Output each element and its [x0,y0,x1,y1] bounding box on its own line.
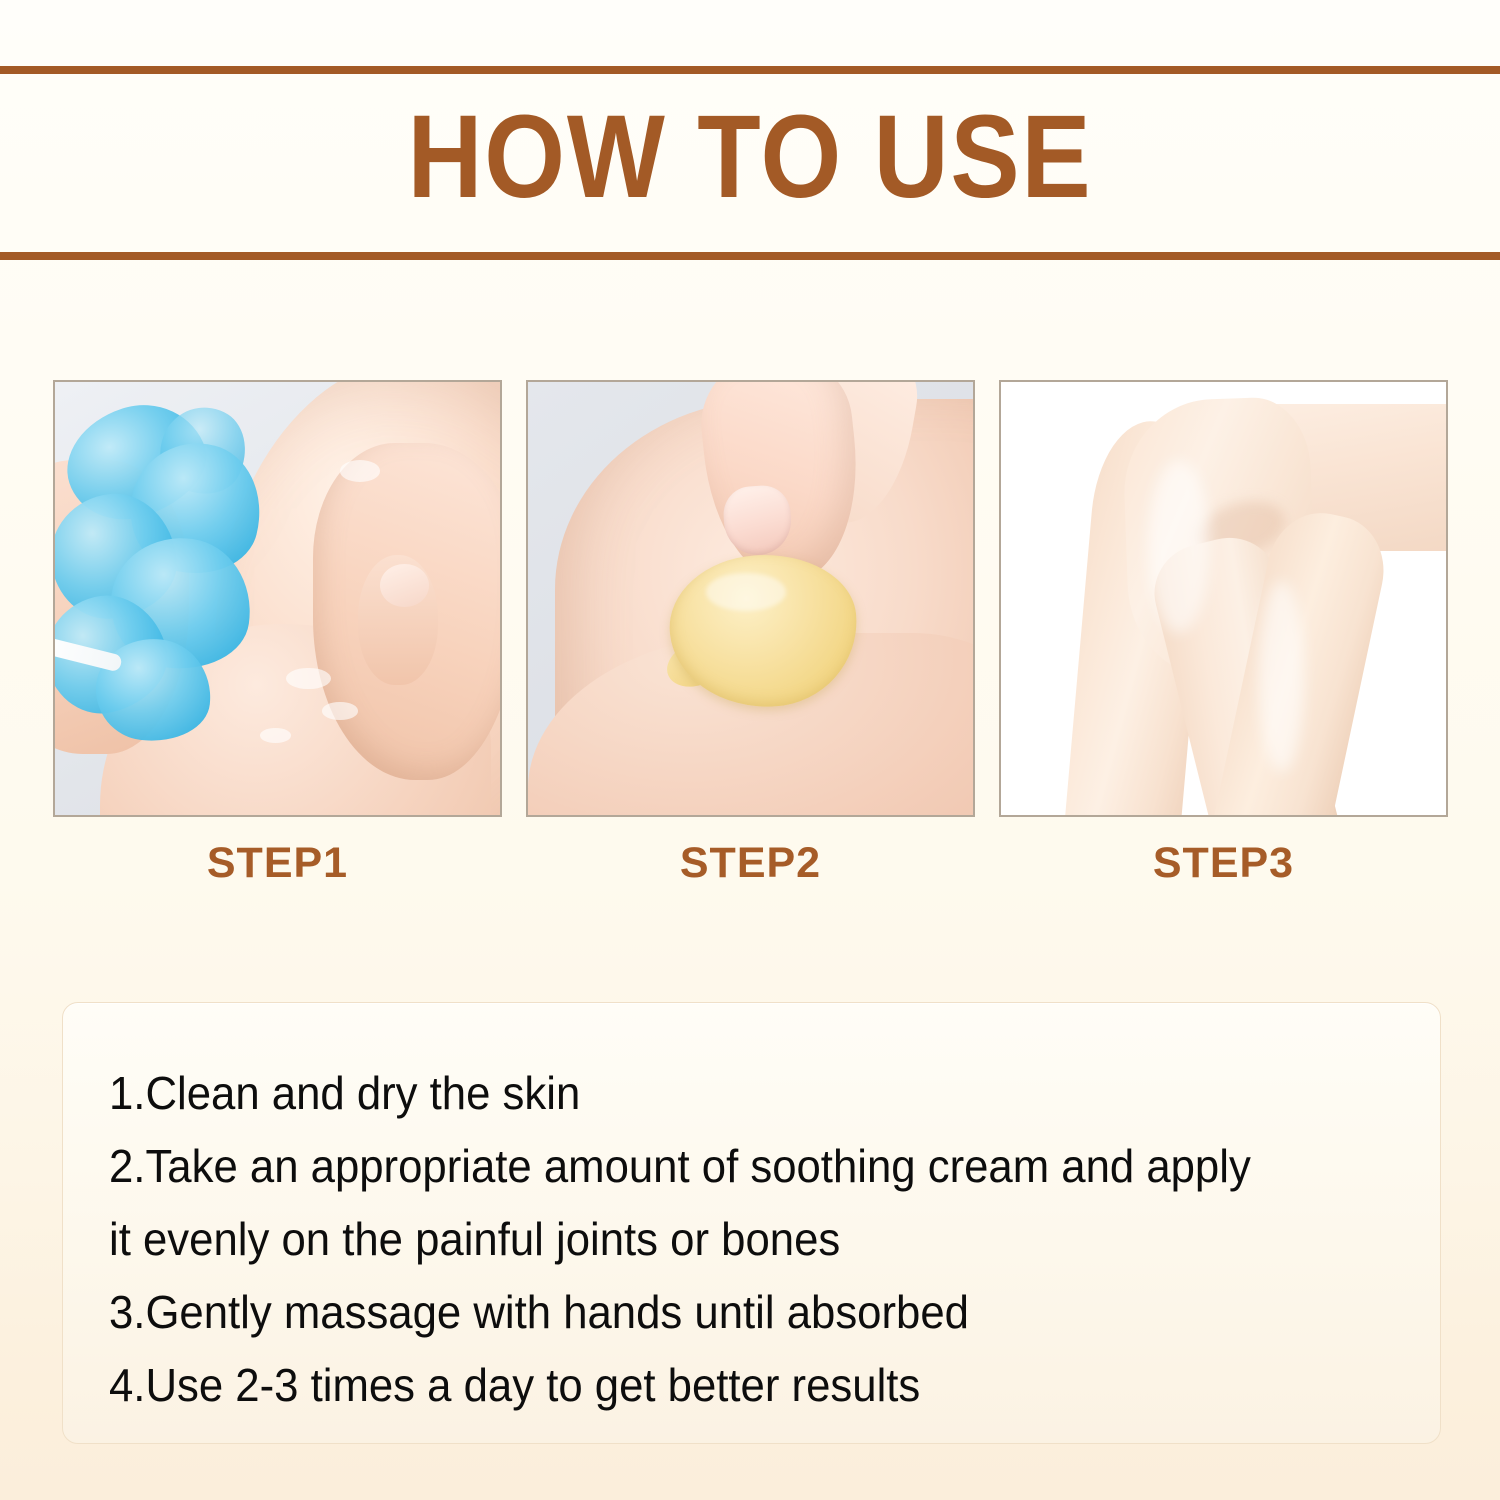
step3-photo [999,380,1448,817]
suds-icon [260,728,291,743]
highlight-icon [1259,581,1304,772]
step-item-1: STEP1 [53,380,502,888]
instructions-panel: 1.Clean and dry the skin 2.Take an appro… [62,1002,1441,1444]
step-label-1: STEP1 [53,839,502,888]
suds-icon [322,702,358,719]
step-item-3: STEP3 [999,380,1448,888]
instruction-line-3: it evenly on the painful joints or bones [109,1203,1335,1276]
highlight-icon [1148,460,1210,633]
right-nail-icon [380,564,429,607]
suds-icon [340,460,380,482]
instruction-line-4: 3.Gently massage with hands until absorb… [109,1276,1335,1349]
step-item-2: STEP2 [526,380,975,888]
step-label-3: STEP3 [999,839,1448,888]
step2-photo [526,380,975,817]
instruction-line-2: 2.Take an appropriate amount of soothing… [109,1130,1335,1203]
instruction-line-1: 1.Clean and dry the skin [109,1057,1335,1130]
header-divider-bottom [0,252,1500,260]
instruction-line-5: 4.Use 2-3 times a day to get better resu… [109,1349,1335,1422]
loofah-sponge-icon [53,399,295,763]
steps-row: STEP1 STEP2 STEP3 [53,380,1448,888]
step-label-2: STEP2 [526,839,975,888]
cream-highlight-icon [706,573,786,612]
page-title: HOW TO USE [90,92,1410,222]
step1-photo [53,380,502,817]
header-divider-top [0,66,1500,74]
